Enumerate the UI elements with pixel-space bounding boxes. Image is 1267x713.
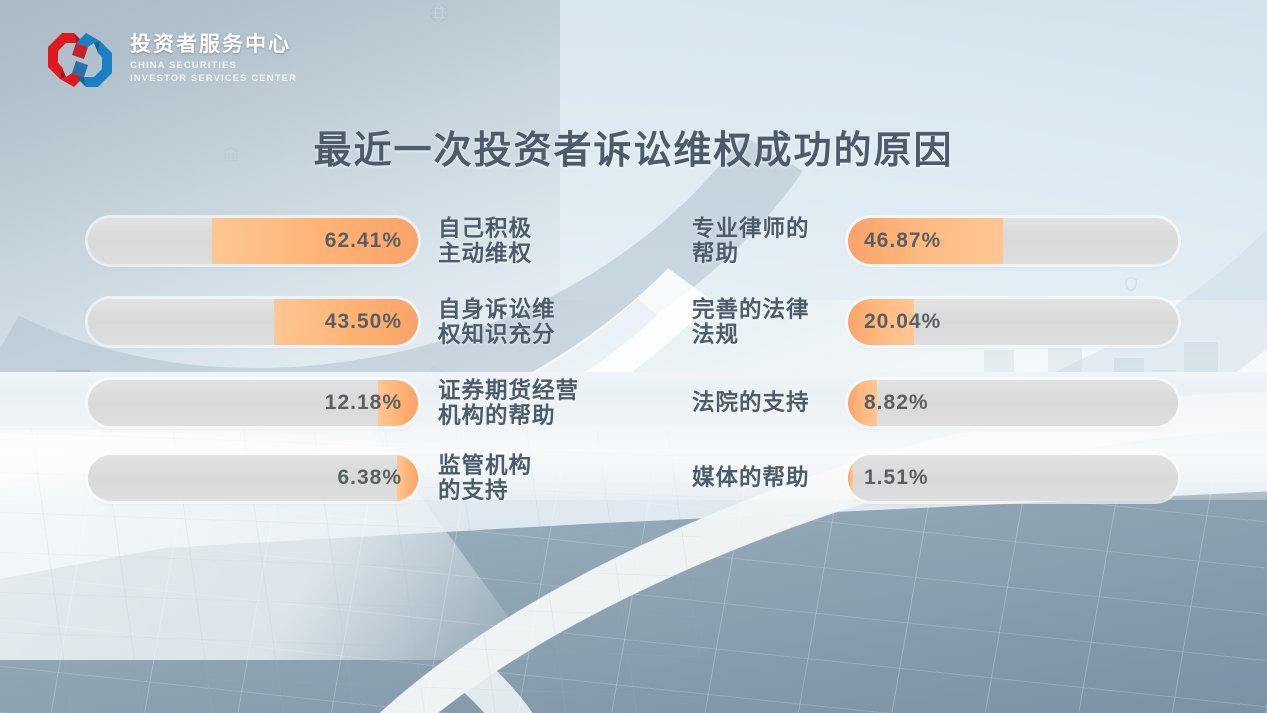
bar-category-label: 自身诉讼维 权知识充分 — [438, 297, 638, 347]
bar-category-label: 专业律师的 帮助 — [692, 216, 832, 266]
bar-category-label: 监管机构 的支持 — [438, 453, 638, 503]
brand-text: 投资者服务中心 CHINA SECURITIES INVESTOR SERVIC… — [130, 34, 297, 85]
bar-value-label: 8.82% — [864, 380, 929, 426]
bar-track: 62.41% — [88, 218, 418, 264]
bar-value-label: 12.18% — [325, 380, 402, 426]
bar-row: 媒体的帮助1.51% — [692, 455, 1178, 501]
bar-value-label: 1.51% — [864, 455, 929, 501]
bar-category-label: 自己积极 主动维权 — [438, 216, 638, 266]
brand-name-en-line1: CHINA SECURITIES — [130, 60, 297, 73]
brand-name-en-line2: INVESTOR SERVICES CENTER — [130, 73, 297, 86]
bar-track: 20.04% — [848, 299, 1178, 345]
brand-logo: 投资者服务中心 CHINA SECURITIES INVESTOR SERVIC… — [44, 29, 297, 91]
bar-category-label: 媒体的帮助 — [692, 465, 832, 490]
bar-track: 6.38% — [88, 455, 418, 501]
bar-value-label: 20.04% — [864, 299, 941, 345]
bar-category-label: 完善的法律 法规 — [692, 297, 832, 347]
bar-row: 43.50%自身诉讼维 权知识充分 — [88, 299, 638, 345]
bar-value-label: 46.87% — [864, 218, 941, 264]
bar-track: 46.87% — [848, 218, 1178, 264]
slide-root: e 投资者服务中心 CH — [0, 0, 1267, 713]
bar-category-label: 法院的支持 — [692, 390, 832, 415]
bar-value-label: 43.50% — [325, 299, 402, 345]
bar-category-label: 证券期货经营 机构的帮助 — [438, 378, 638, 428]
bar-track: 8.82% — [848, 380, 1178, 426]
bar-value-label: 6.38% — [337, 455, 402, 501]
globe-icon — [428, 2, 450, 29]
bar-row: 专业律师的 帮助46.87% — [692, 218, 1178, 264]
brand-name-en: CHINA SECURITIES INVESTOR SERVICES CENTE… — [130, 60, 297, 85]
bar-track: 43.50% — [88, 299, 418, 345]
bar-track: 1.51% — [848, 455, 1178, 501]
bar-row: 法院的支持8.82% — [692, 380, 1178, 426]
e-mark-icon: e — [906, 500, 915, 520]
bar-value-label: 62.41% — [325, 218, 402, 264]
page-title: 最近一次投资者诉讼维权成功的原因 — [0, 119, 1267, 174]
bar-row: 62.41%自己积极 主动维权 — [88, 218, 638, 264]
brand-name-cn: 投资者服务中心 — [130, 34, 297, 55]
bar-track: 12.18% — [88, 380, 418, 426]
csisc-interlock-logo-icon — [44, 29, 116, 91]
bar-row: 完善的法律 法规20.04% — [692, 299, 1178, 345]
bar-row: 12.18%证券期货经营 机构的帮助 — [88, 380, 638, 426]
bar-fill — [848, 455, 853, 501]
bar-chart: 62.41%自己积极 主动维权43.50%自身诉讼维 权知识充分12.18%证券… — [0, 218, 1267, 498]
bar-row: 6.38%监管机构 的支持 — [88, 455, 638, 501]
